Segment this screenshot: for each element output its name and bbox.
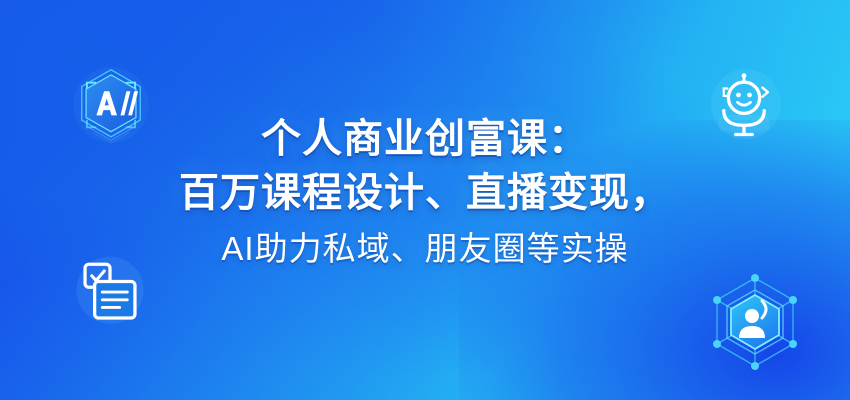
headline-line-3: AI助力私域、朋友圈等实操	[36, 224, 814, 274]
headline-line-1: 个人商业创富课：	[36, 112, 814, 166]
headline-line-2: 百万课程设计、直播变现，	[36, 166, 814, 220]
banner-headline: 个人商业创富课： 百万课程设计、直播变现， AI助力私域、朋友圈等实操	[0, 112, 850, 274]
course-promo-banner: 个人商业创富课： 百万课程设计、直播变现， AI助力私域、朋友圈等实操	[0, 0, 850, 400]
